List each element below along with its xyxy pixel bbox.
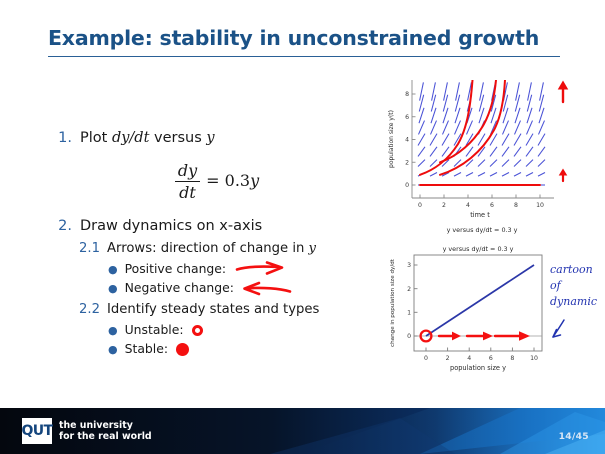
y-ticks bbox=[414, 265, 418, 336]
y-ticks bbox=[412, 94, 416, 185]
list-text-1: Plot dy/dt versus y bbox=[80, 128, 382, 149]
x-tick-labels: 0 2 4 6 8 10 bbox=[418, 202, 544, 209]
bullet-dot-icon: ● bbox=[108, 283, 118, 294]
arrows-text: Arrows: direction of change in bbox=[107, 241, 309, 256]
vector-field bbox=[418, 82, 545, 185]
svg-text:2: 2 bbox=[446, 355, 450, 362]
list-item-1: 1. Plot dy/dt versus y bbox=[52, 128, 382, 149]
handwriting-line-1: cartoon bbox=[550, 263, 593, 276]
content-list: 1. Plot dy/dt versus y dy dt = 0.3y 2. D… bbox=[52, 128, 382, 360]
up-arrow-small-icon bbox=[560, 170, 567, 182]
list-item-2-1: 2.1 Arrows: direction of change in y bbox=[78, 240, 382, 259]
bullet-unstable: ● Unstable: bbox=[108, 321, 382, 340]
qut-logo-tagline: the university for the real world bbox=[59, 420, 152, 443]
list-text-2-1: Arrows: direction of change in y bbox=[107, 240, 316, 259]
arrow-right-icon bbox=[234, 260, 286, 278]
svg-text:6: 6 bbox=[489, 355, 493, 362]
direction-arrows bbox=[439, 331, 530, 341]
y-tick-labels: 0 1 2 3 bbox=[407, 262, 411, 340]
x-ticks bbox=[426, 348, 534, 352]
list-number-1: 1. bbox=[52, 128, 72, 149]
svg-text:4: 4 bbox=[467, 355, 471, 362]
svg-text:0: 0 bbox=[405, 182, 409, 189]
bullet-dot-icon: ● bbox=[108, 344, 118, 355]
arrow-right-icon-2 bbox=[467, 332, 493, 341]
list-number-2-2: 2.2 bbox=[78, 301, 100, 320]
dydt-line bbox=[426, 265, 534, 336]
up-arrow-large-icon bbox=[559, 82, 568, 103]
qut-logo: QUT the university for the real world bbox=[22, 418, 152, 444]
x-ticks bbox=[420, 195, 540, 199]
tagline-line-2: for the real world bbox=[59, 431, 152, 442]
bullet-dot-icon: ● bbox=[108, 325, 118, 336]
x-tick-labels: 0 2 4 6 8 10 bbox=[424, 355, 538, 362]
svg-text:4: 4 bbox=[405, 137, 409, 144]
y-axis-label: change in population size dy/dt bbox=[390, 258, 396, 347]
bullet-label-stable: Stable: bbox=[125, 340, 168, 359]
handwriting-line-3: dynamic bbox=[550, 295, 597, 308]
qut-logo-mark: QUT bbox=[22, 418, 52, 444]
equation-equals: = bbox=[206, 171, 219, 190]
svg-text:0: 0 bbox=[418, 202, 422, 209]
svg-text:3: 3 bbox=[407, 262, 411, 269]
y-tick-labels: 0 2 4 6 8 bbox=[405, 91, 409, 189]
svg-text:1: 1 bbox=[407, 310, 411, 317]
right-annotation-arrows bbox=[559, 82, 568, 182]
handwriting-text: cartoon of dynamic bbox=[550, 263, 597, 308]
svg-text:8: 8 bbox=[514, 202, 518, 209]
svg-text:2: 2 bbox=[407, 286, 411, 293]
direction-field-plot: 0 2 4 6 8 0 2 4 6 8 10 bbox=[382, 72, 602, 242]
bullet-negative-change: ● Negative change: bbox=[108, 279, 382, 298]
title-divider bbox=[48, 56, 560, 57]
solution-curves bbox=[420, 80, 540, 185]
arrow-right-icon-3 bbox=[495, 331, 530, 341]
handwriting-line-2: of bbox=[550, 279, 563, 292]
equation-variable: y bbox=[250, 171, 259, 190]
svg-text:6: 6 bbox=[490, 202, 494, 209]
arrow-left-icon bbox=[242, 280, 294, 298]
direction-field-svg: 0 2 4 6 8 0 2 4 6 8 10 bbox=[382, 72, 602, 242]
list-number-2-1: 2.1 bbox=[78, 240, 100, 259]
math-dydt: dy/dt bbox=[112, 130, 149, 146]
list-text-2: Draw dynamics on x-axis bbox=[80, 216, 382, 237]
math-y: y bbox=[206, 130, 214, 146]
filled-circle-icon bbox=[176, 343, 189, 356]
bullet-stable: ● Stable: bbox=[108, 340, 382, 359]
svg-text:8: 8 bbox=[405, 91, 409, 98]
svg-text:6: 6 bbox=[405, 114, 409, 121]
bullet-label-unstable: Unstable: bbox=[125, 321, 184, 340]
plot-subtitle: y versus dy/dt = 0.3 y bbox=[447, 226, 518, 234]
equation-dydt: dy dt = 0.3y bbox=[52, 161, 382, 202]
list-number-2: 2. bbox=[52, 216, 72, 237]
svg-text:2: 2 bbox=[405, 160, 409, 167]
y-axis-label: population size y(t) bbox=[388, 110, 395, 168]
handwritten-annotation bbox=[553, 320, 564, 337]
open-circle-icon bbox=[192, 325, 203, 336]
page-title: Example: stability in unconstrained grow… bbox=[48, 26, 558, 50]
tagline-line-1: the university bbox=[59, 420, 152, 431]
svg-text:8: 8 bbox=[510, 355, 514, 362]
list-item-2-2: 2.2 Identify steady states and types bbox=[78, 301, 382, 320]
bullet-dot-icon: ● bbox=[108, 264, 118, 275]
x-axis-label: time t bbox=[470, 211, 490, 219]
svg-text:10: 10 bbox=[536, 202, 544, 209]
equation-coefficient: 0.3 bbox=[225, 171, 250, 190]
arrow-right-icon-1 bbox=[439, 332, 461, 341]
plot-title: y versus dy/dt = 0.3 y bbox=[443, 245, 514, 253]
plot-text-mid: versus bbox=[149, 130, 206, 146]
bullet-positive-change: ● Positive change: bbox=[108, 260, 382, 279]
list-text-2-2: Identify steady states and types bbox=[107, 301, 319, 320]
page-number: 14/45 bbox=[559, 431, 589, 442]
svg-text:4: 4 bbox=[466, 202, 470, 209]
fraction-numerator: dy bbox=[175, 161, 200, 182]
bullet-label-negative: Negative change: bbox=[125, 279, 234, 298]
svg-text:0: 0 bbox=[407, 333, 411, 340]
bullet-label-positive: Positive change: bbox=[125, 260, 226, 279]
footer-bar: QUT the university for the real world 14… bbox=[0, 408, 605, 454]
phase-line-svg: 0 1 2 3 0 2 4 6 8 10 pop bbox=[382, 243, 602, 383]
math-y-2: y bbox=[309, 241, 316, 256]
fraction: dy dt bbox=[175, 161, 200, 202]
svg-text:10: 10 bbox=[530, 355, 538, 362]
x-axis-label: population size y bbox=[450, 364, 506, 372]
slide: Example: stability in unconstrained grow… bbox=[0, 0, 605, 454]
svg-text:0: 0 bbox=[424, 355, 428, 362]
svg-text:2: 2 bbox=[442, 202, 446, 209]
plot-text-before: Plot bbox=[80, 130, 112, 146]
list-item-2: 2. Draw dynamics on x-axis bbox=[52, 216, 382, 237]
fraction-denominator: dt bbox=[175, 182, 200, 202]
phase-line-plot: 0 1 2 3 0 2 4 6 8 10 pop bbox=[382, 243, 602, 383]
